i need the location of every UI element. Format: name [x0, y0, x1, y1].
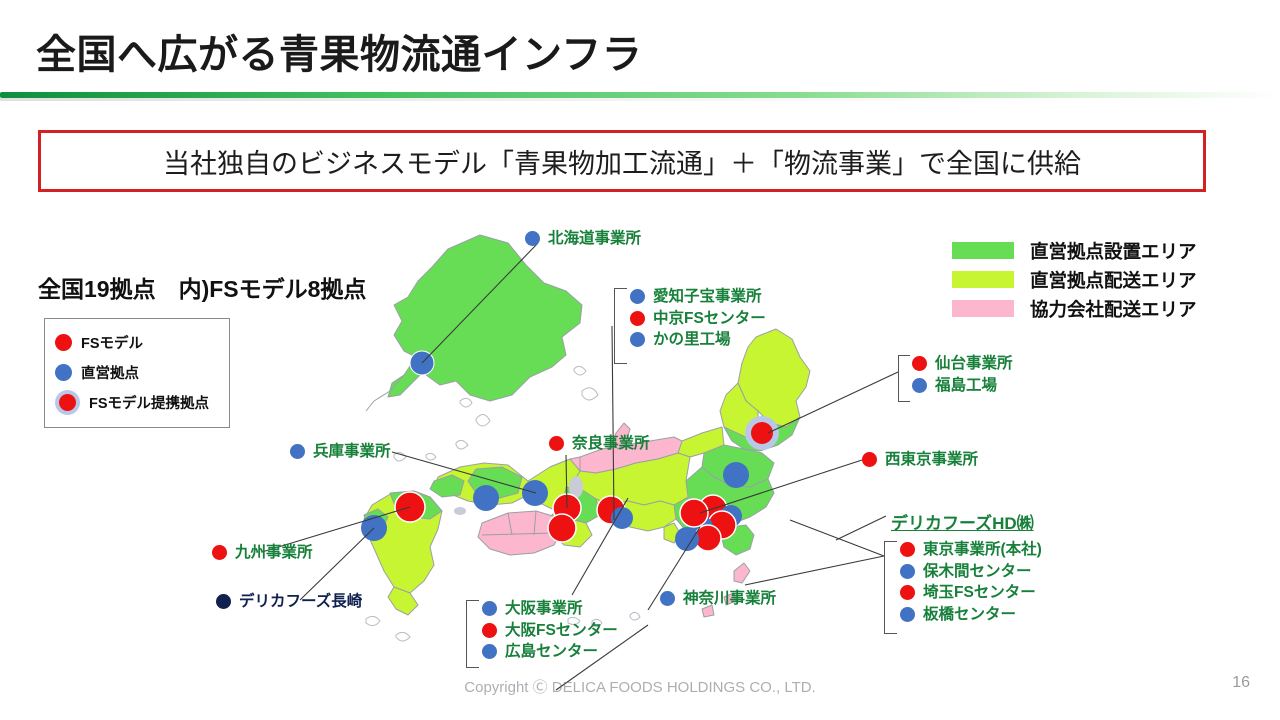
callout-hyogo: 兵庫事業所	[290, 444, 391, 460]
marker-kanagawa-direct	[675, 527, 699, 551]
direct-site-dot-icon	[630, 289, 645, 304]
direct-site-dot-icon	[900, 564, 915, 579]
legend-item-direct-site: 直営拠点	[55, 357, 219, 387]
headline-banner-text: 当社独自のビジネスモデル「青果物加工流通」＋「物流事業」で全国に供給	[163, 142, 1081, 181]
direct-site-dot-icon	[900, 607, 915, 622]
marker-hiroshima-direct	[473, 485, 499, 511]
site-count-headline: 全国19拠点 内)FSモデル8拠点	[38, 270, 366, 304]
area-legend-label: 直営拠点配送エリア	[1030, 267, 1197, 293]
marker-hyogo-direct	[522, 480, 548, 506]
page-title: 全国へ広がる青果物流通インフラ	[36, 22, 642, 80]
callout-osaka-office: 大阪事業所	[482, 601, 618, 617]
fs-model-dot-icon	[900, 542, 915, 557]
callout-label: 九州事業所	[235, 545, 313, 561]
region-kyushu-south	[388, 587, 418, 615]
fs-model-dot-icon	[630, 311, 645, 326]
callout-label: 大阪FSセンター	[505, 623, 618, 639]
copyright-footer: Copyright Ⓒ DELICA FOODS HOLDINGS CO., L…	[0, 676, 1280, 697]
bracket-tohoku	[898, 355, 910, 402]
callout-label: 広島センター	[505, 644, 598, 660]
callout-label: 大阪事業所	[505, 601, 583, 617]
area-legend-item-delivery: 直営拠点配送エリア	[952, 265, 1197, 294]
area-legend: 直営拠点設置エリア 直営拠点配送エリア 協力会社配送エリア	[952, 236, 1197, 323]
callout-tohoku-group: 仙台事業所 福島工場	[912, 356, 1013, 393]
direct-site-dot-icon	[290, 444, 305, 459]
callout-label: デリカフーズ長崎	[239, 594, 362, 610]
callout-delica-hd-heading: デリカフーズHD㈱	[891, 509, 1034, 534]
callout-label: 東京事業所(本社)	[923, 542, 1042, 558]
callout-kansai-group: 大阪事業所 大阪FSセンター 広島センター	[482, 601, 618, 660]
fs-model-dot-icon	[912, 356, 927, 371]
callout-tokyo-hq: 東京事業所(本社)	[900, 542, 1042, 558]
marker-legend: FSモデル 直営拠点 FSモデル提携拠点	[44, 318, 230, 428]
callout-saitama-fs-center: 埼玉FSセンター	[900, 585, 1042, 601]
legend-item-fs-model: FSモデル	[55, 327, 219, 357]
fs-model-dot-icon	[862, 452, 877, 467]
legend-item-fs-partner-site: FSモデル提携拠点	[55, 387, 219, 417]
callout-label: 愛知子宝事業所	[653, 289, 762, 305]
callout-nara: 奈良事業所	[549, 436, 650, 452]
callout-delica-hd-group: 東京事業所(本社) 保木間センター 埼玉FSセンター 板橋センター	[900, 542, 1042, 622]
direct-site-dot-icon	[630, 332, 645, 347]
callout-kanosato-plant: かの里工場	[630, 332, 766, 348]
slide-canvas: 全国へ広がる青果物流通インフラ 当社独自のビジネスモデル「青果物加工流通」＋「物…	[0, 0, 1280, 720]
callout-label: 仙台事業所	[935, 356, 1013, 372]
callout-fukushima: 福島工場	[912, 378, 1013, 394]
callout-itabashi-center: 板橋センター	[900, 607, 1042, 623]
marker-hokkaido-direct	[410, 351, 434, 375]
page-number: 16	[1232, 674, 1250, 692]
fs-model-dot-icon	[212, 545, 227, 560]
bracket-chukyo	[614, 288, 627, 364]
navy-site-dot-icon	[216, 594, 231, 609]
lake-misc	[454, 507, 466, 515]
marker-kyushu-fs	[395, 492, 425, 522]
callout-label: 神奈川事業所	[683, 591, 776, 607]
marker-fukushima-direct	[723, 462, 749, 488]
callout-sendai: 仙台事業所	[912, 356, 1013, 372]
area-legend-label: 協力会社配送エリア	[1030, 296, 1197, 322]
legend-label: FSモデル	[81, 332, 143, 353]
japan-map-svg	[330, 205, 970, 685]
callout-label: 西東京事業所	[885, 452, 978, 468]
callout-nagasaki: デリカフーズ長崎	[216, 594, 362, 610]
callout-nishitokyo: 西東京事業所	[862, 452, 978, 468]
fs-model-dot-icon	[549, 436, 564, 451]
callout-hokima-center: 保木間センター	[900, 564, 1042, 580]
region-chugoku-green-b	[430, 475, 464, 497]
callout-label: かの里工場	[653, 332, 731, 348]
headline-banner: 当社独自のビジネスモデル「青果物加工流通」＋「物流事業」で全国に供給	[38, 130, 1206, 192]
direct-site-dot-icon	[55, 364, 72, 381]
direct-site-dot-icon	[525, 231, 540, 246]
callout-label: 板橋センター	[923, 607, 1016, 623]
callout-chukyo-fs-center: 中京FSセンター	[630, 311, 766, 327]
callout-hokkaido: 北海道事業所	[525, 231, 641, 247]
legend-label: FSモデル提携拠点	[89, 392, 209, 413]
bracket-delica-hd	[884, 541, 897, 634]
direct-site-dot-icon	[912, 378, 927, 393]
area-legend-label: 直営拠点設置エリア	[1030, 238, 1197, 264]
callout-label: 中京FSセンター	[653, 311, 766, 327]
legend-label: 直営拠点	[81, 362, 139, 383]
marker-sendai-fs	[751, 422, 773, 444]
callout-label: 埼玉FSセンター	[923, 585, 1036, 601]
group-heading-label: デリカフーズHD㈱	[891, 514, 1034, 533]
marker-osaka-fs	[548, 514, 576, 542]
callout-label: 保木間センター	[923, 564, 1032, 580]
title-divider	[0, 92, 1280, 98]
callout-label: 福島工場	[935, 378, 997, 394]
direct-site-dot-icon	[482, 601, 497, 616]
direct-site-dot-icon	[660, 591, 675, 606]
callout-osaka-fs-center: 大阪FSセンター	[482, 623, 618, 639]
callout-kanagawa: 神奈川事業所	[660, 591, 776, 607]
callout-hiroshima-center: 広島センター	[482, 644, 618, 660]
direct-site-dot-icon	[482, 644, 497, 659]
callout-kyushu: 九州事業所	[212, 545, 313, 561]
callout-label: 兵庫事業所	[313, 444, 391, 460]
area-legend-item-partner-company: 協力会社配送エリア	[952, 294, 1197, 323]
fs-partner-dot-icon	[59, 394, 76, 411]
japan-map	[330, 205, 970, 685]
fs-model-dot-icon	[900, 585, 915, 600]
callout-aichi-kodakara: 愛知子宝事業所	[630, 289, 766, 305]
callout-label: 奈良事業所	[572, 436, 650, 452]
fs-model-dot-icon	[482, 623, 497, 638]
fs-model-dot-icon	[55, 334, 72, 351]
callout-chukyo-group: 愛知子宝事業所 中京FSセンター かの里工場	[630, 289, 766, 348]
marker-nagasaki-direct	[361, 515, 387, 541]
bracket-kansai	[466, 600, 479, 668]
marker-aichi-direct	[611, 507, 633, 529]
region-okinawa	[734, 563, 750, 583]
area-legend-item-installed: 直営拠点設置エリア	[952, 236, 1197, 265]
marker-nishitokyo-fs	[680, 499, 708, 527]
callout-label: 北海道事業所	[548, 231, 641, 247]
region-hokkaido	[394, 235, 582, 401]
